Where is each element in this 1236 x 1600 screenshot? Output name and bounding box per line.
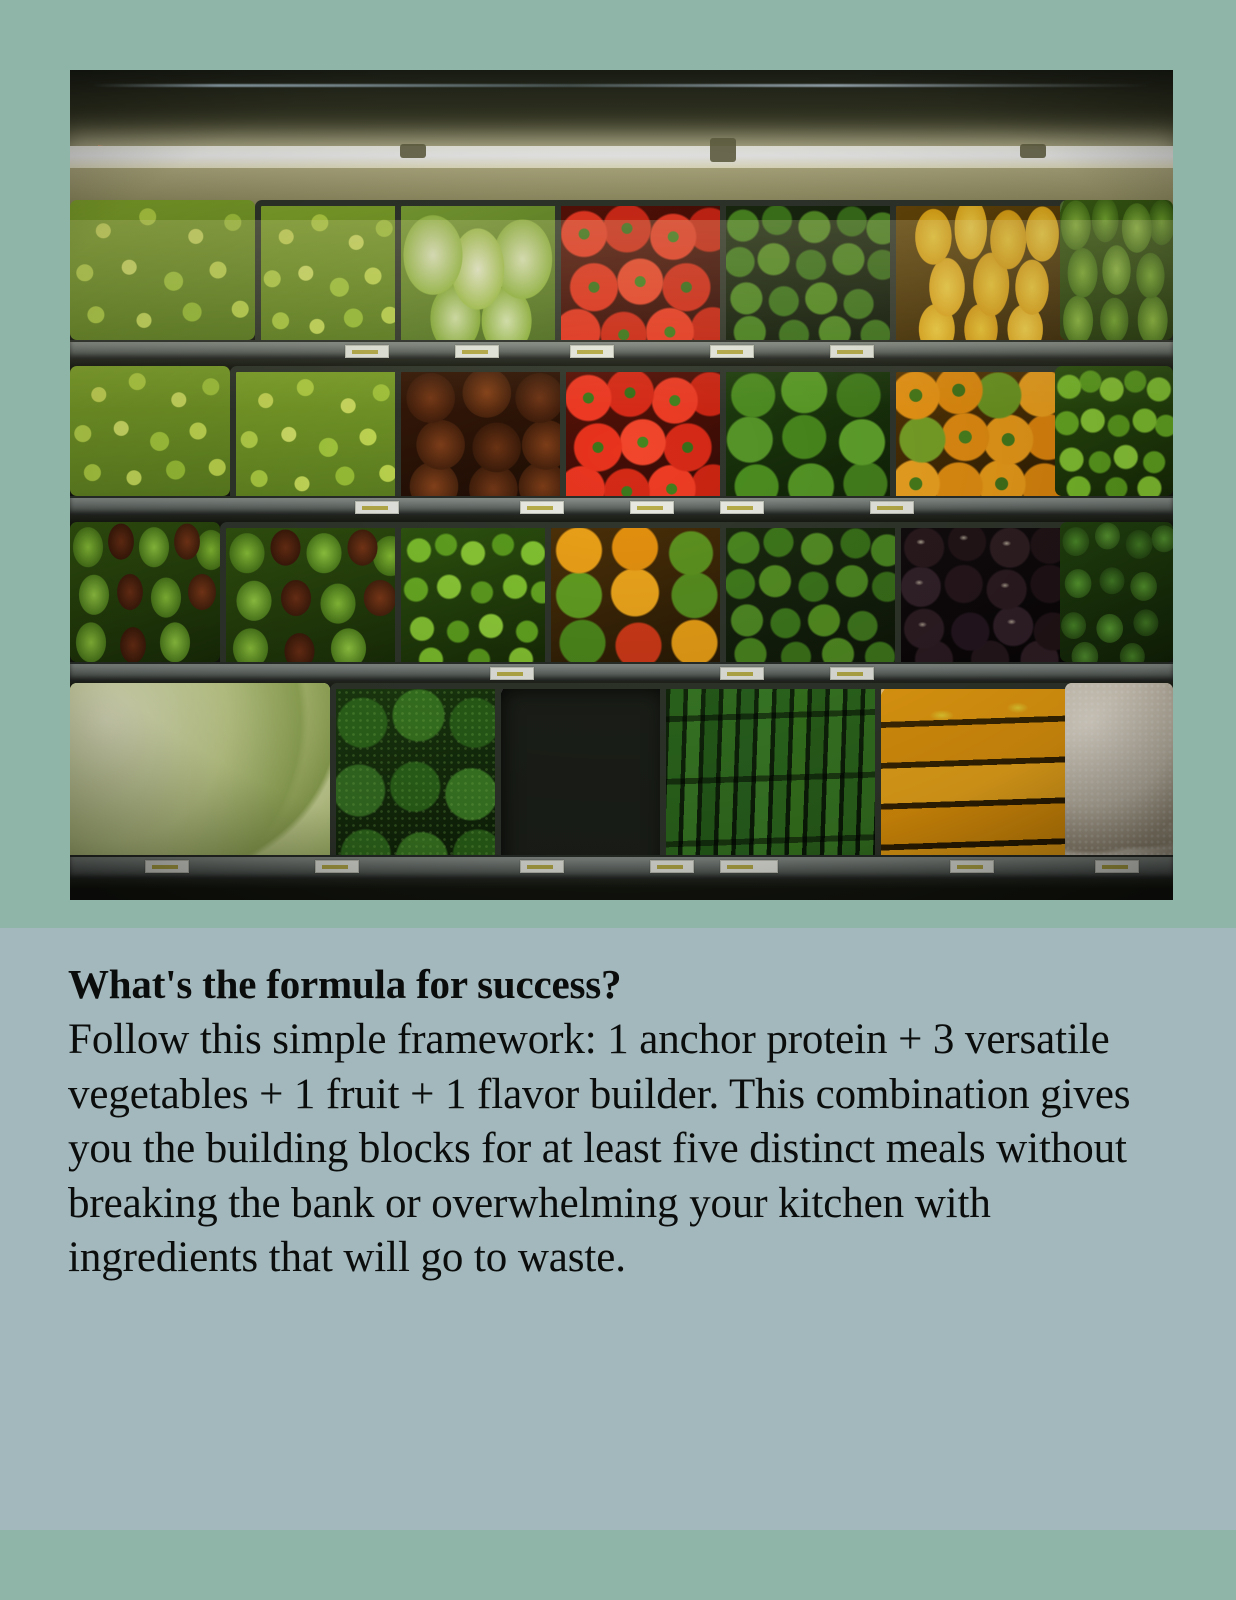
crate-cucumbers <box>660 683 887 871</box>
tube-clip-icon <box>400 144 426 158</box>
shelf-row-1 <box>70 200 1173 340</box>
produce-display-photo <box>70 70 1173 900</box>
price-tag[interactable] <box>315 860 359 873</box>
shelf-row-4 <box>70 683 1173 871</box>
crate-mixed-leaf-lettuce <box>70 522 220 662</box>
price-tag[interactable] <box>870 501 914 514</box>
crate-red-bell-peppers <box>560 366 732 496</box>
price-tag[interactable] <box>1095 860 1139 873</box>
tube-clip-icon <box>1020 144 1046 158</box>
price-tag[interactable] <box>570 345 614 358</box>
crate-red-oak-leaf-lettuce <box>395 366 572 496</box>
price-tag[interactable] <box>145 860 189 873</box>
tube-clip-icon <box>710 138 736 162</box>
crate-green-zucchini <box>720 522 907 662</box>
price-tag[interactable] <box>650 860 694 873</box>
crate-curly-green-lettuce <box>70 200 255 340</box>
price-tag[interactable] <box>520 501 564 514</box>
shelf-rail-3 <box>70 662 1173 681</box>
bottom-green-band <box>0 1530 1236 1600</box>
crate-red-bell-peppers <box>555 200 732 340</box>
shelf-rail-1 <box>70 340 1173 359</box>
price-tag[interactable] <box>950 860 994 873</box>
crate-fresh-herbs <box>395 522 557 662</box>
crate-leafy-greens <box>1060 200 1173 340</box>
caption-panel: What's the formula for success? Follow t… <box>0 928 1236 1530</box>
shelf-row-3 <box>70 522 1173 662</box>
canopy-glint <box>92 84 1151 87</box>
crate-iceberg-lettuce-heads <box>70 683 330 871</box>
crate-orange-bell-peppers <box>890 366 1067 496</box>
price-tag[interactable] <box>455 345 499 358</box>
price-tag[interactable] <box>830 667 874 680</box>
price-tag[interactable] <box>345 345 389 358</box>
crate-mixed-red-green-lettuce <box>220 522 407 662</box>
crate-eggplants <box>895 522 1072 662</box>
crate-wrapped-garlic-packs <box>495 683 672 871</box>
crate-cauliflower-heads <box>1065 683 1173 871</box>
crate-large-leafy-greens <box>1060 522 1173 662</box>
price-tag[interactable] <box>720 667 764 680</box>
display-canopy <box>70 70 1173 146</box>
price-tag[interactable] <box>630 501 674 514</box>
crate-yellow-squash <box>890 200 1072 340</box>
shelf-rail-2 <box>70 496 1173 515</box>
crate-green-peppers-and-squash <box>720 366 902 496</box>
price-tag[interactable] <box>830 345 874 358</box>
crate-wrapped-pumpkin-slices <box>875 683 1077 871</box>
crate-green-zucchini <box>720 200 902 340</box>
fluorescent-tube-light <box>70 146 1173 168</box>
crate-mixed-bell-peppers <box>545 522 732 662</box>
shelf-rail-4 <box>70 855 1173 879</box>
price-tag[interactable] <box>520 860 564 873</box>
shelf-row-2 <box>70 366 1173 496</box>
caption-headline: What's the formula for success? <box>68 964 1158 1005</box>
price-tag[interactable] <box>720 501 764 514</box>
caption-body: Follow this simple framework: 1 anchor p… <box>68 1013 1158 1286</box>
crate-curly-green-lettuce-2 <box>255 200 407 340</box>
crate-butter-lettuce <box>395 200 567 340</box>
price-tag[interactable] <box>720 860 778 873</box>
price-tag[interactable] <box>490 667 534 680</box>
crate-parsley-bunches <box>1055 366 1173 496</box>
crate-green-leaf-lettuce <box>70 366 230 496</box>
price-tag[interactable] <box>355 501 399 514</box>
caption-copy-block: What's the formula for success? Follow t… <box>68 964 1158 1286</box>
crate-green-curly-lettuce <box>230 366 407 496</box>
crate-broccoli-crowns <box>330 683 507 871</box>
price-tag[interactable] <box>710 345 754 358</box>
poster-page: What's the formula for success? Follow t… <box>0 0 1236 1600</box>
